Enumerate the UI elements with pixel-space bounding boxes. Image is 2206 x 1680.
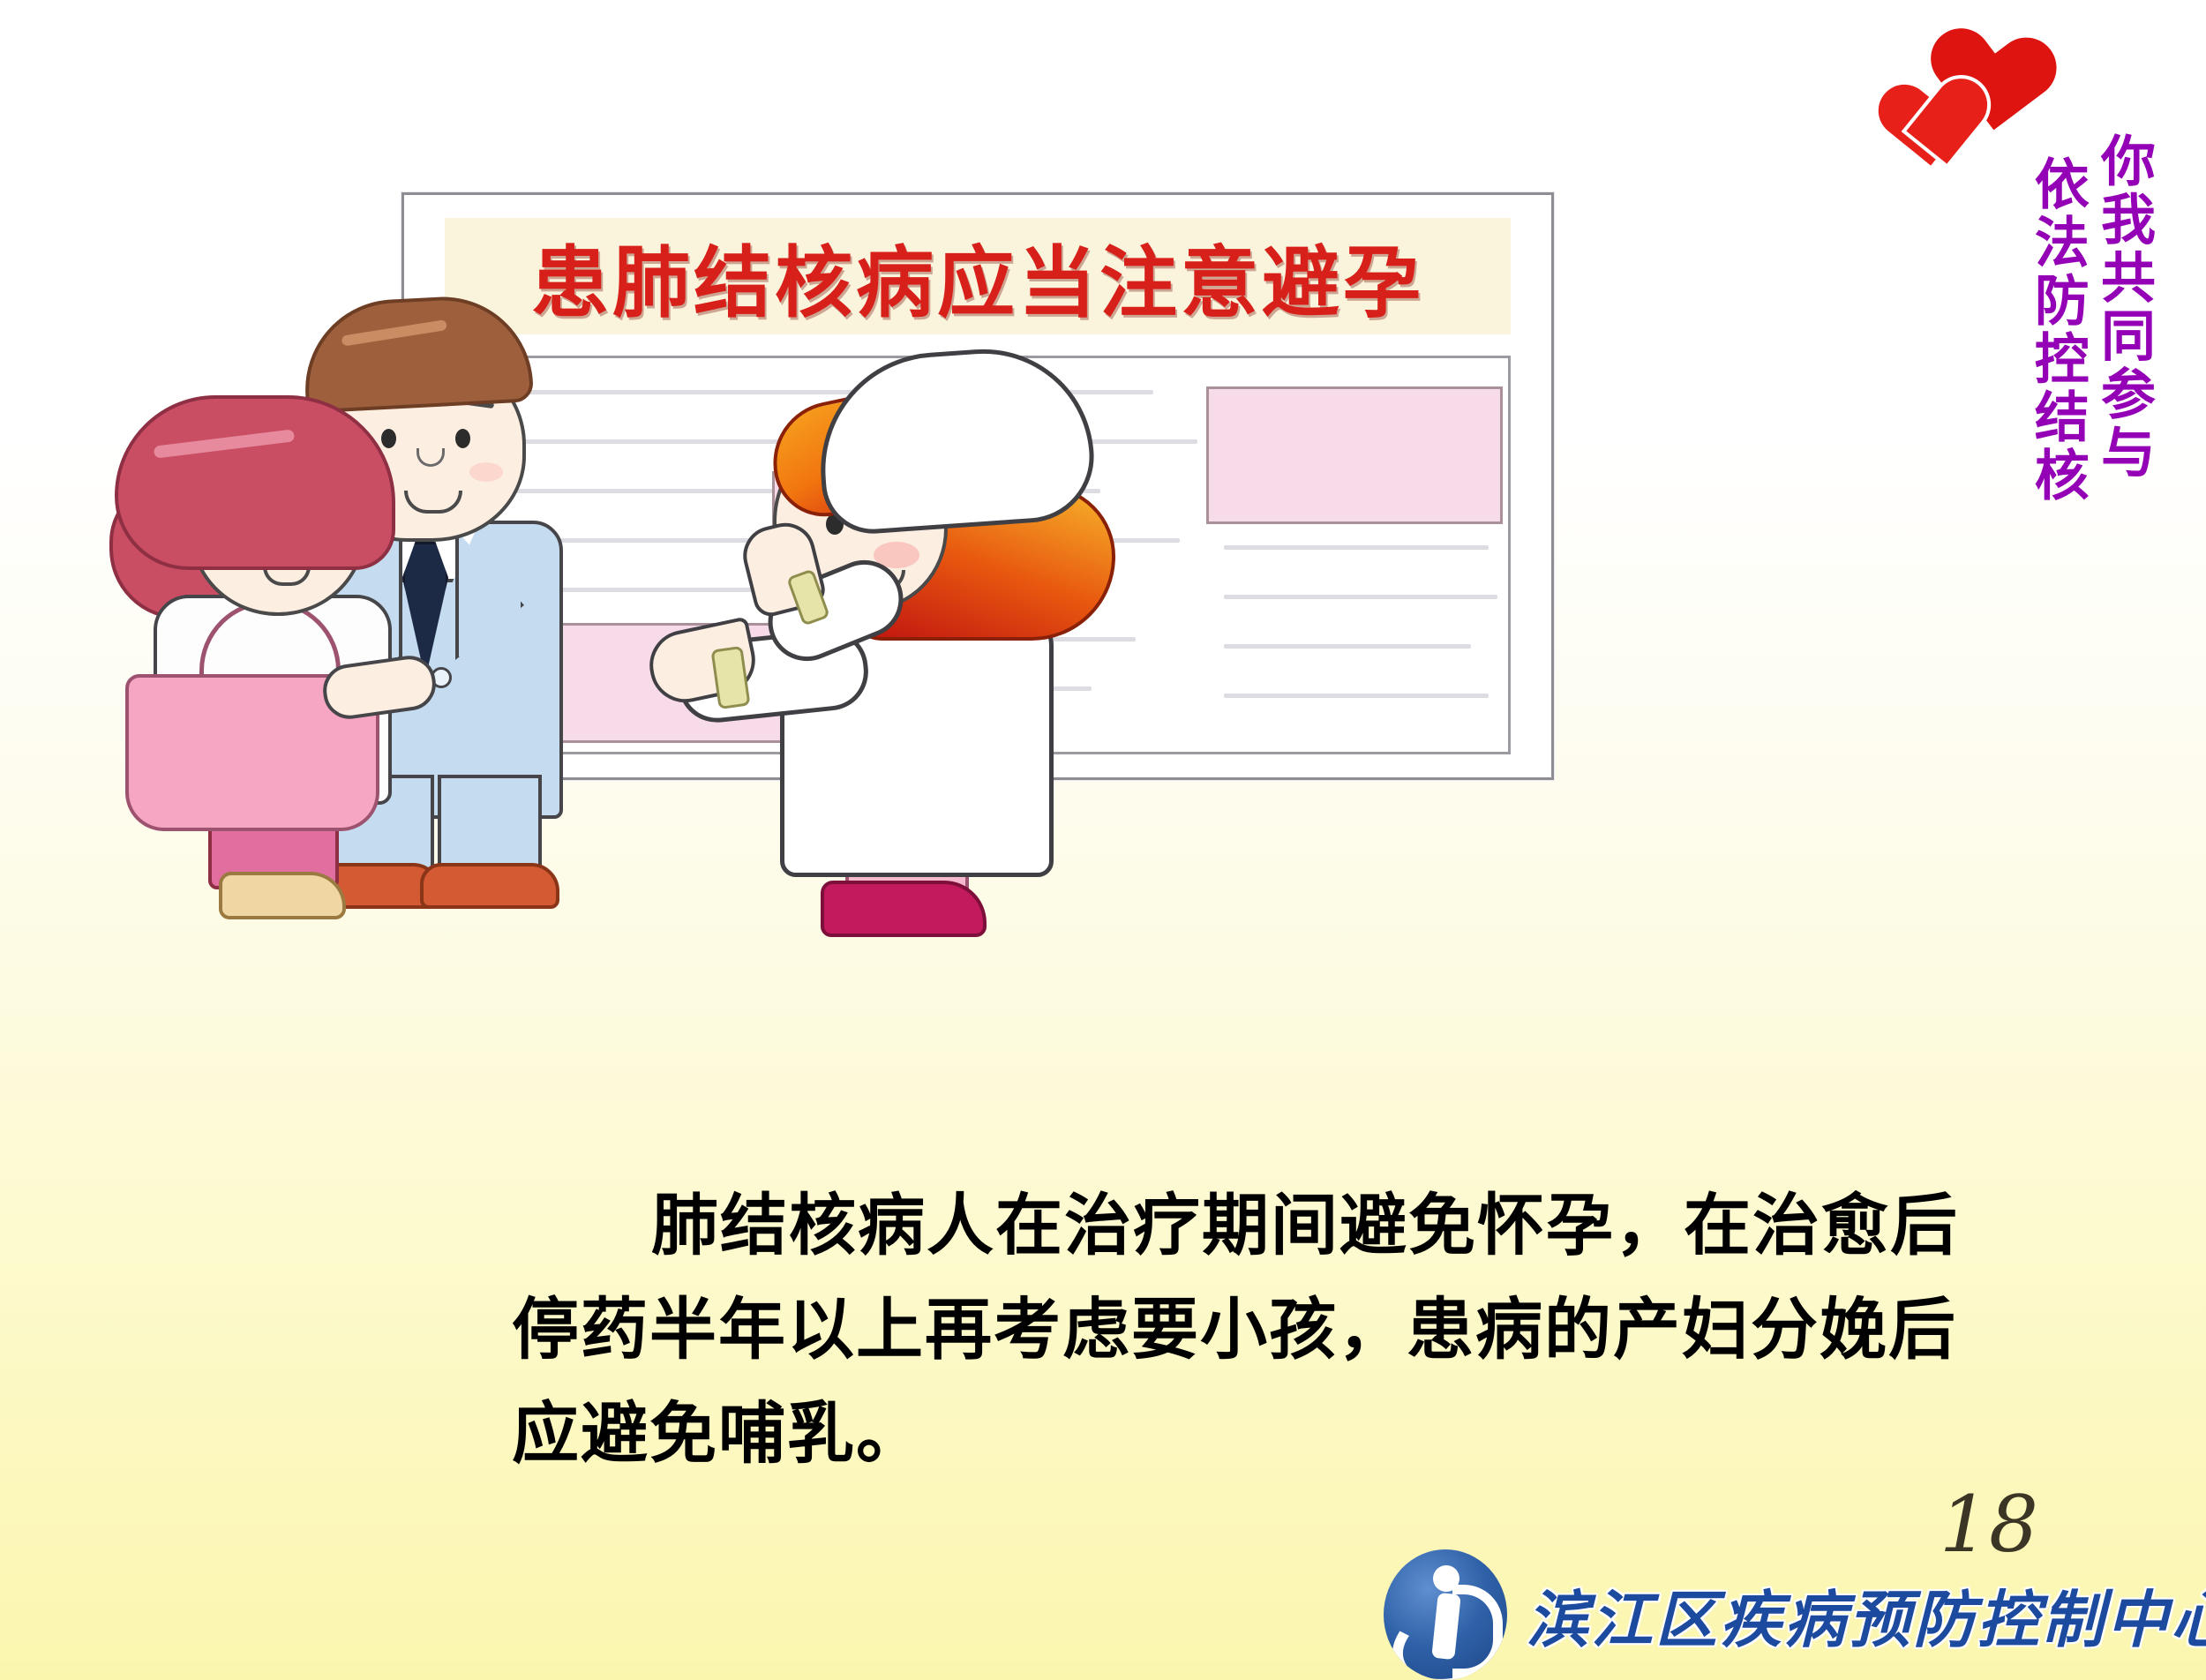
man-shoe — [420, 863, 559, 909]
cdc-logo-icon — [1384, 1549, 1507, 1680]
slogan-column-2: 依法防控结核 — [2030, 155, 2085, 505]
man-eye — [455, 429, 470, 448]
man-cheek — [469, 462, 503, 482]
poster-text-line — [1224, 644, 1471, 649]
footer-branding: 滨江区疾病预防控制中心 — [1384, 1549, 2206, 1680]
poster-text-line — [1224, 694, 1489, 698]
woman-hair — [115, 395, 395, 570]
nurse-cap — [813, 341, 1098, 536]
poster-headline: 患肺结核病应当注意避孕 — [531, 221, 1424, 333]
illustration-scene: 患肺结核病应当注意避孕 — [106, 168, 1482, 1156]
slogan-column-1: 你我共同参与 — [2096, 132, 2151, 482]
woman-shoe — [219, 872, 346, 919]
poster-banner: 患肺结核病应当注意避孕 — [445, 218, 1511, 334]
heart-icon-front — [1904, 78, 2000, 173]
nurse-shoe — [821, 881, 987, 937]
poster-pink-box — [1206, 386, 1503, 524]
poster-text-line — [1224, 595, 1497, 599]
character-woman — [115, 395, 424, 863]
poster-text-line — [1224, 545, 1489, 550]
slide-canvas: 你我共同参与 依法防控结核 患肺结核病应当注意避孕 — [0, 0, 2206, 1680]
organization-name: 滨江区疾病预防控制中心 — [1527, 1571, 2206, 1660]
body-paragraph: 肺结核病人在治疗期间避免怀孕，在治愈后停药半年以上再考虑要小孩，患病的产妇分娩后… — [512, 1174, 1959, 1485]
character-nurse — [688, 351, 1112, 934]
vertical-slogan: 你我共同参与 依法防控结核 — [2030, 132, 2151, 505]
